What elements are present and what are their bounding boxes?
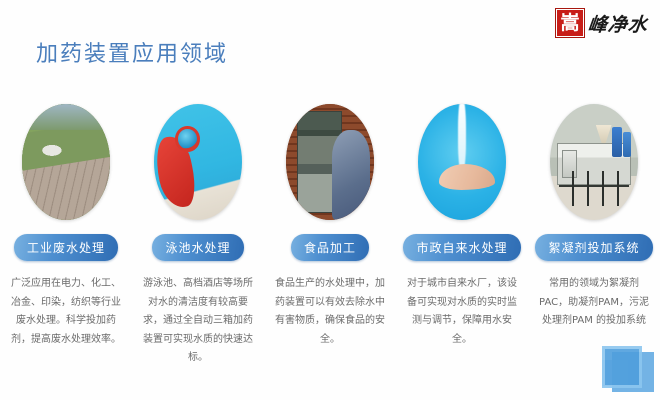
tank-shape — [623, 132, 631, 158]
application-column: 市政自来水处理 对于城市自来水厂，该设备可实现对水质的实时监测与调节，保障用水安… — [396, 104, 528, 368]
category-description: 游泳池、高档酒店等场所对水的清洁度有较高要求，通过全自动三箱加药装置可实现水质的… — [140, 275, 256, 368]
application-column: 工业废水处理 广泛应用在电力、化工、冶金、印染，纺织等行业废水处理。科学投加药剂… — [0, 104, 132, 368]
control-panel-shape — [562, 150, 576, 178]
category-description: 食品生产的水处理中，加药装置可以有效去除水中有害物质，确保食品的安全。 — [272, 275, 388, 349]
category-label-pool-water[interactable]: 泳池水处理 — [152, 234, 243, 261]
category-description: 对于城市自来水厂，该设备可实现对水质的实时监测与调节，保障用水安全。 — [404, 275, 520, 349]
category-description: 常用的领域为絮凝剂PAC，助凝剂PAM，污泥处理剂PAM 的投加系统 — [536, 275, 652, 331]
brand-name: 峰净水 — [587, 10, 650, 37]
decorative-square-outline — [602, 346, 642, 388]
hopper-shape — [596, 125, 612, 144]
category-label-industrial-wastewater[interactable]: 工业废水处理 — [14, 234, 118, 261]
food-factory-worker-photo — [286, 104, 374, 220]
category-description: 广泛应用在电力、化工、冶金、印染，纺织等行业废水处理。科学投加药剂，提高废水处理… — [8, 275, 124, 349]
application-columns: 工业废水处理 广泛应用在电力、化工、冶金、印染，纺织等行业废水处理。科学投加药剂… — [0, 104, 660, 368]
decorative-squares — [594, 346, 656, 398]
brand-seal-icon: 嵩 — [555, 8, 585, 38]
pool-water-sample-photo — [154, 104, 242, 220]
application-column: 絮凝剂投加系统 常用的领域为絮凝剂PAC，助凝剂PAM，污泥处理剂PAM 的投加… — [528, 104, 660, 368]
page-title: 加药装置应用领域 — [36, 36, 228, 68]
application-column: 食品加工 食品生产的水处理中，加药装置可以有效去除水中有害物质，确保食品的安全。 — [264, 104, 396, 368]
tank-shape — [612, 127, 623, 157]
category-label-flocculant-dosing[interactable]: 絮凝剂投加系统 — [535, 234, 652, 261]
application-column: 泳池水处理 游泳池、高档酒店等场所对水的清洁度有较高要求，通过全自动三箱加药装置… — [132, 104, 264, 368]
category-label-municipal-tap-water[interactable]: 市政自来水处理 — [403, 234, 520, 261]
dosing-equipment-photo — [550, 104, 638, 220]
clean-water-hands-photo — [418, 104, 506, 220]
category-label-food-processing[interactable]: 食品加工 — [291, 234, 369, 261]
slide-root: 嵩 峰净水 加药装置应用领域 工业废水处理 广泛应用在电力、化工、冶金、印染，纺… — [0, 0, 660, 400]
wastewater-plant-aerial-photo — [22, 104, 110, 220]
brand-logo: 嵩 峰净水 — [555, 8, 648, 38]
